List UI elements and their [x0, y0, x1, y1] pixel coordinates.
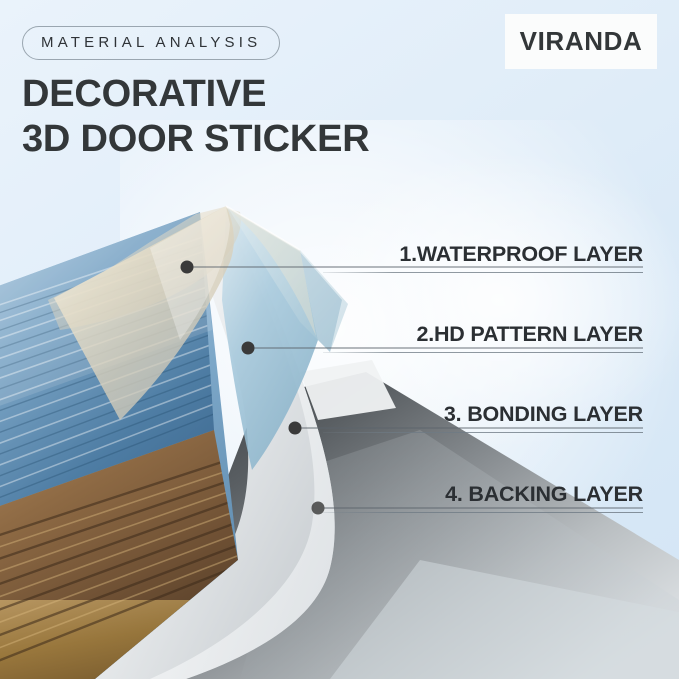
- callout-hd-pattern-layer: 2.HD PATTERN LAYER: [323, 322, 643, 353]
- brand-name: VIRANDA: [520, 26, 643, 57]
- callout-underline-1: [323, 272, 643, 273]
- callout-label-4: 4. BACKING LAYER: [323, 482, 643, 507]
- callout-label-1: 1.WATERPROOF LAYER: [323, 242, 643, 267]
- material-analysis-badge: MATERIAL ANALYSIS: [22, 26, 280, 60]
- brand-logo: VIRANDA: [505, 14, 657, 69]
- callout-waterproof-layer: 1.WATERPROOF LAYER: [323, 242, 643, 273]
- callout-underline-2: [323, 352, 643, 353]
- callout-bonding-layer: 3. BONDING LAYER: [323, 402, 643, 433]
- callout-label-2: 2.HD PATTERN LAYER: [323, 322, 643, 347]
- callout-underline-4: [323, 512, 643, 513]
- callout-label-3: 3. BONDING LAYER: [323, 402, 643, 427]
- callout-underline-3: [323, 432, 643, 433]
- callout-backing-layer: 4. BACKING LAYER: [323, 482, 643, 513]
- page-title: DECORATIVE 3D DOOR STICKER: [22, 72, 369, 162]
- title-line-2: 3D DOOR STICKER: [22, 118, 369, 160]
- infographic-canvas: MATERIAL ANALYSIS DECORATIVE 3D DOOR STI…: [0, 0, 679, 679]
- title-line-1: DECORATIVE: [22, 73, 266, 115]
